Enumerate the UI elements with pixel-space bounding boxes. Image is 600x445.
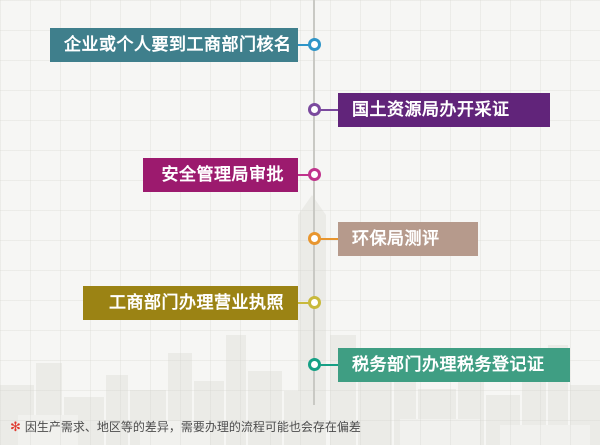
step-5-label-box[interactable]: 工商部门办理营业执照 bbox=[83, 286, 298, 320]
timeline-axis bbox=[313, 0, 315, 405]
step-1-label: 企业或个人要到工商部门核名 bbox=[64, 35, 292, 54]
step-3-label-box[interactable]: 安全管理局审批 bbox=[143, 158, 298, 192]
step-5-node[interactable] bbox=[308, 296, 321, 309]
step-4-connector bbox=[320, 238, 338, 240]
step-1-label-box[interactable]: 企业或个人要到工商部门核名 bbox=[50, 28, 298, 62]
step-2-label-box[interactable]: 国土资源局办开采证 bbox=[338, 93, 550, 127]
asterisk-icon: ✻ bbox=[10, 419, 21, 434]
step-2-label: 国土资源局办开采证 bbox=[352, 100, 510, 119]
flowchart-diagram: 企业或个人要到工商部门核名 国土资源局办开采证 安全管理局审批 环保局测评 工商… bbox=[0, 0, 600, 445]
step-4-label-box[interactable]: 环保局测评 bbox=[338, 222, 478, 256]
step-6-connector bbox=[320, 364, 338, 366]
footnote: ✻因生产需求、地区等的差异，需要办理的流程可能也会存在偏差 bbox=[10, 418, 361, 435]
step-3-node[interactable] bbox=[308, 168, 321, 181]
step-5-label: 工商部门办理营业执照 bbox=[109, 293, 284, 312]
step-1-node[interactable] bbox=[308, 38, 321, 51]
step-4-label: 环保局测评 bbox=[352, 229, 440, 248]
step-6-label: 税务部门办理税务登记证 bbox=[352, 355, 545, 374]
step-6-label-box[interactable]: 税务部门办理税务登记证 bbox=[338, 348, 570, 382]
step-2-connector bbox=[320, 109, 338, 111]
step-3-label: 安全管理局审批 bbox=[162, 165, 285, 184]
footnote-text: 因生产需求、地区等的差异，需要办理的流程可能也会存在偏差 bbox=[25, 420, 361, 434]
